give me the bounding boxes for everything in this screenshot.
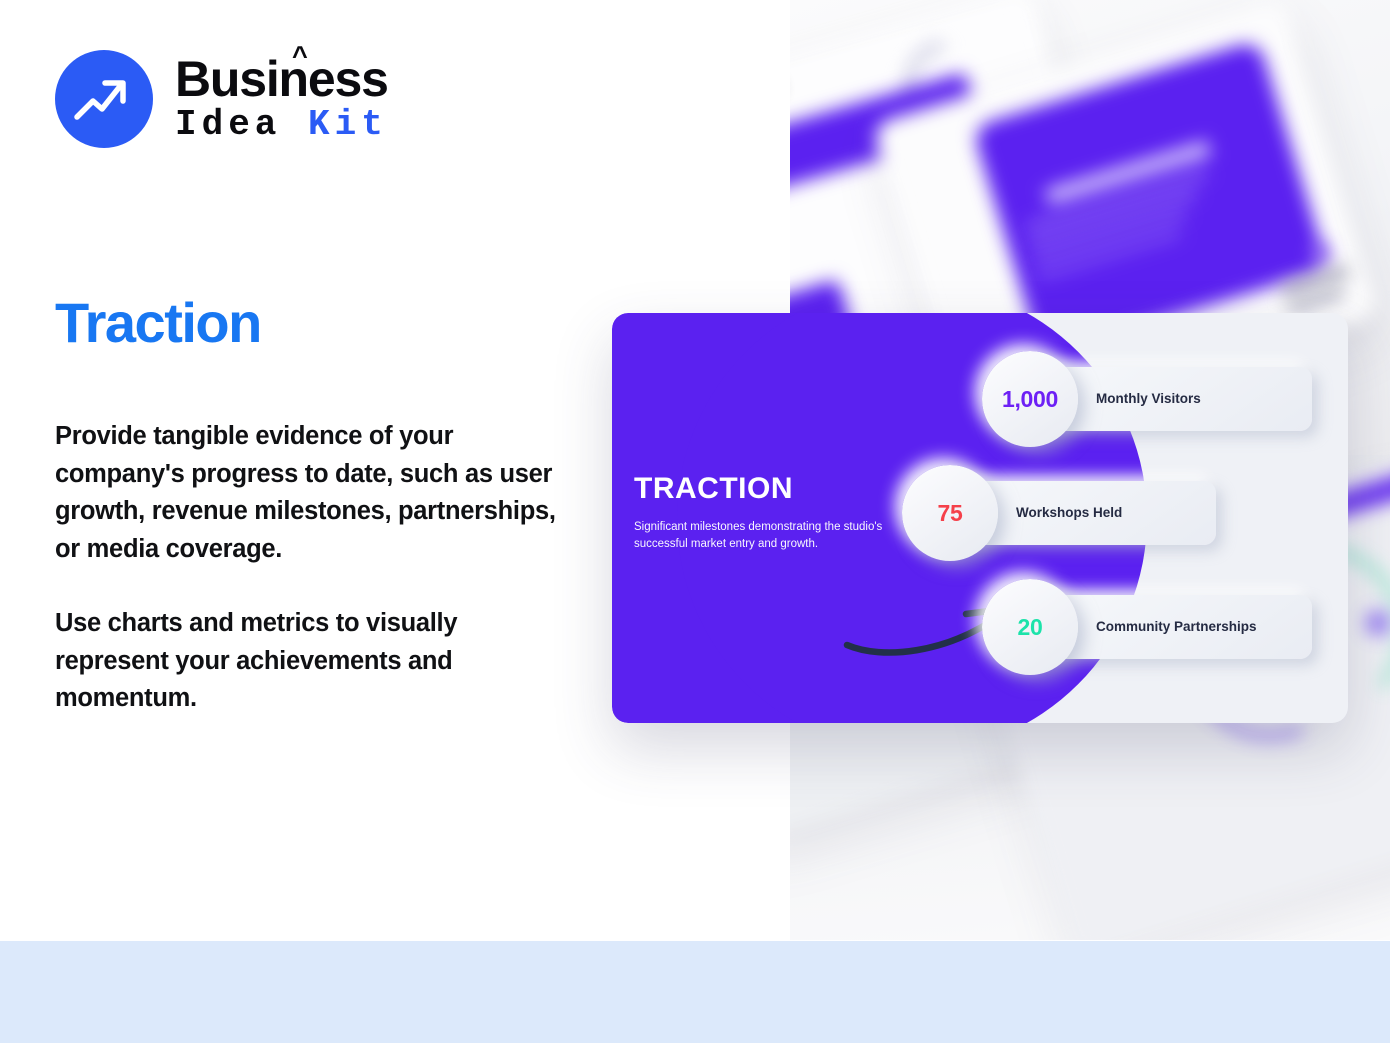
body-paragraph: Use charts and metrics to visually repre… xyxy=(55,605,565,718)
brand-logo[interactable]: Business ^ Idea Kit xyxy=(55,50,388,148)
slide-title: TRACTION xyxy=(634,473,884,505)
metric-value: 20 xyxy=(1018,614,1043,641)
metric-label-pill: Workshops Held xyxy=(964,481,1216,545)
body-paragraph: Provide tangible evidence of your compan… xyxy=(55,418,565,569)
brand-business-text: Business xyxy=(175,51,388,107)
metric-value-circle: 20 xyxy=(982,579,1078,675)
blurred-dot xyxy=(1365,610,1390,636)
brand-line-idea-kit: Idea Kit xyxy=(175,106,388,144)
page-title: Traction xyxy=(55,295,261,351)
metric-value: 1,000 xyxy=(1002,386,1058,413)
slide-canvas: TRACTION Significant milestones demonstr… xyxy=(0,0,1390,1043)
metric-label: Workshops Held xyxy=(1016,505,1122,522)
brand-kit-text: Kit xyxy=(308,104,388,145)
slide-subtitle: Significant milestones demonstrating the… xyxy=(634,519,884,555)
brand-line-business: Business ^ xyxy=(175,54,388,104)
metric-value-circle: 75 xyxy=(902,465,998,561)
metric-row[interactable]: 20 Community Partnerships xyxy=(982,579,1312,675)
metric-label-pill: Community Partnerships xyxy=(1044,595,1312,659)
brand-idea-text: Idea xyxy=(175,104,308,145)
slide-text-block: TRACTION Significant milestones demonstr… xyxy=(634,473,884,554)
metric-label-pill: Monthly Visitors xyxy=(1044,367,1312,431)
metric-value-circle: 1,000 xyxy=(982,351,1078,447)
bottom-accent-band xyxy=(0,941,1390,1043)
metric-value: 75 xyxy=(938,500,963,527)
metric-row[interactable]: 75 Workshops Held xyxy=(902,465,1216,561)
brand-wordmark: Business ^ Idea Kit xyxy=(175,54,388,144)
traction-slide-card: TRACTION Significant milestones demonstr… xyxy=(612,313,1348,723)
metric-label: Monthly Visitors xyxy=(1096,391,1201,408)
metric-row[interactable]: 1,000 Monthly Visitors xyxy=(982,351,1312,447)
growth-arrow-icon xyxy=(55,50,153,148)
body-copy: Provide tangible evidence of your compan… xyxy=(55,418,565,718)
metric-label: Community Partnerships xyxy=(1096,619,1257,636)
metrics-list: 1,000 Monthly Visitors 75 Workshops Held… xyxy=(982,351,1332,691)
blurred-dot xyxy=(1309,243,1331,265)
brand-caret-icon: ^ xyxy=(292,43,307,70)
